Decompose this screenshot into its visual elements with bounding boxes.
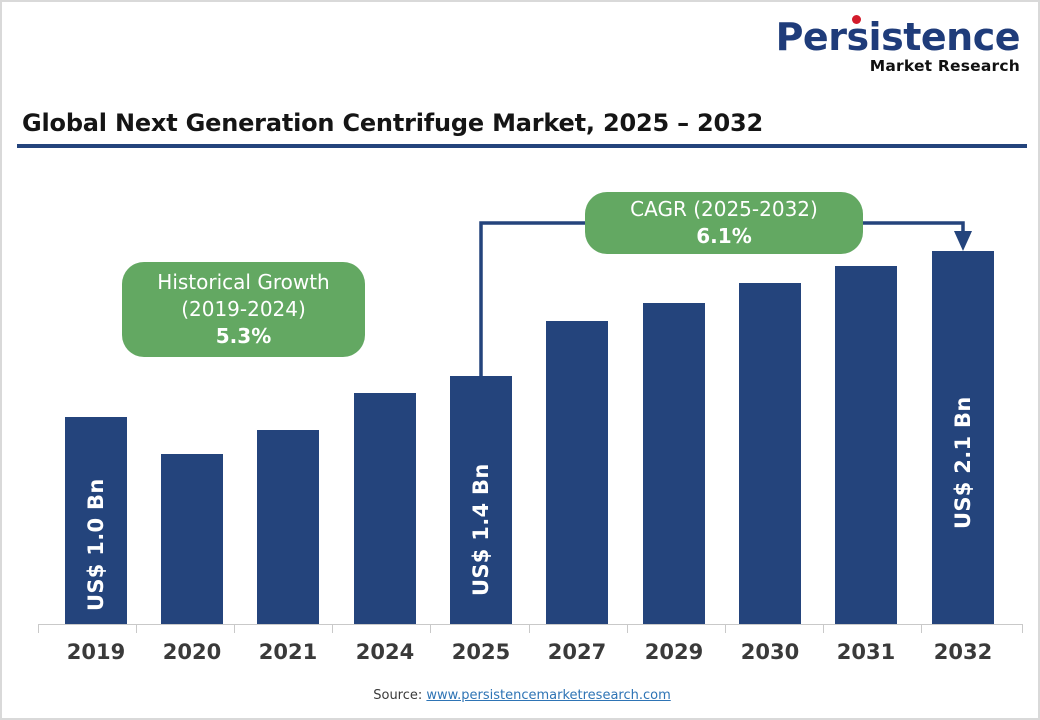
x-axis-label-2021: 2021 <box>240 640 336 664</box>
callout-historical-line2: (2019-2024) <box>181 296 306 323</box>
x-axis-line <box>38 624 1023 625</box>
x-axis-label-2030: 2030 <box>722 640 818 664</box>
bar-2021 <box>257 430 319 624</box>
bar-value-label-2019: US$ 1.0 Bn <box>84 478 108 611</box>
callout-cagr-line1: CAGR (2025-2032) <box>630 196 818 223</box>
axis-tick <box>38 624 39 633</box>
axis-tick <box>430 624 431 633</box>
axis-tick <box>627 624 628 633</box>
source-prefix: Source: <box>373 688 426 703</box>
callout-cagr-value: 6.1% <box>696 223 751 250</box>
bar-2029 <box>643 303 705 624</box>
source-line: Source: www.persistencemarketresearch.co… <box>2 688 1040 703</box>
x-axis-label-2027: 2027 <box>529 640 625 664</box>
callout-historical-value: 5.3% <box>216 323 271 350</box>
axis-tick <box>136 624 137 633</box>
bar-2030 <box>739 283 801 624</box>
bar-value-label-2025: US$ 1.4 Bn <box>469 463 493 596</box>
x-axis-label-2032: 2032 <box>915 640 1011 664</box>
callout-cagr: CAGR (2025-2032) 6.1% <box>585 192 863 254</box>
axis-tick <box>234 624 235 633</box>
source-link[interactable]: www.persistencemarketresearch.com <box>426 688 670 703</box>
chart-page: Persistence Market Research Global Next … <box>0 0 1040 720</box>
bar-2020 <box>161 454 223 624</box>
x-axis-label-2031: 2031 <box>818 640 914 664</box>
axis-tick <box>332 624 333 633</box>
axis-tick <box>823 624 824 633</box>
axis-tick <box>1022 624 1023 633</box>
chart-plot-area: US$ 1.0 Bn US$ 1.4 Bn US$ 2.1 Bn 2019 20… <box>2 2 1040 720</box>
x-axis-label-2019: 2019 <box>48 640 144 664</box>
axis-tick <box>529 624 530 633</box>
bar-2024 <box>354 393 416 624</box>
bar-2031 <box>835 266 897 624</box>
callout-historical-line1: Historical Growth <box>157 269 329 296</box>
x-axis-label-2029: 2029 <box>626 640 722 664</box>
x-axis-label-2020: 2020 <box>144 640 240 664</box>
x-axis-label-2025: 2025 <box>433 640 529 664</box>
axis-tick <box>921 624 922 633</box>
x-axis-label-2024: 2024 <box>337 640 433 664</box>
bar-2027 <box>546 321 608 624</box>
axis-tick <box>725 624 726 633</box>
callout-historical-growth: Historical Growth (2019-2024) 5.3% <box>122 262 365 357</box>
bar-value-label-2032: US$ 2.1 Bn <box>951 396 975 529</box>
